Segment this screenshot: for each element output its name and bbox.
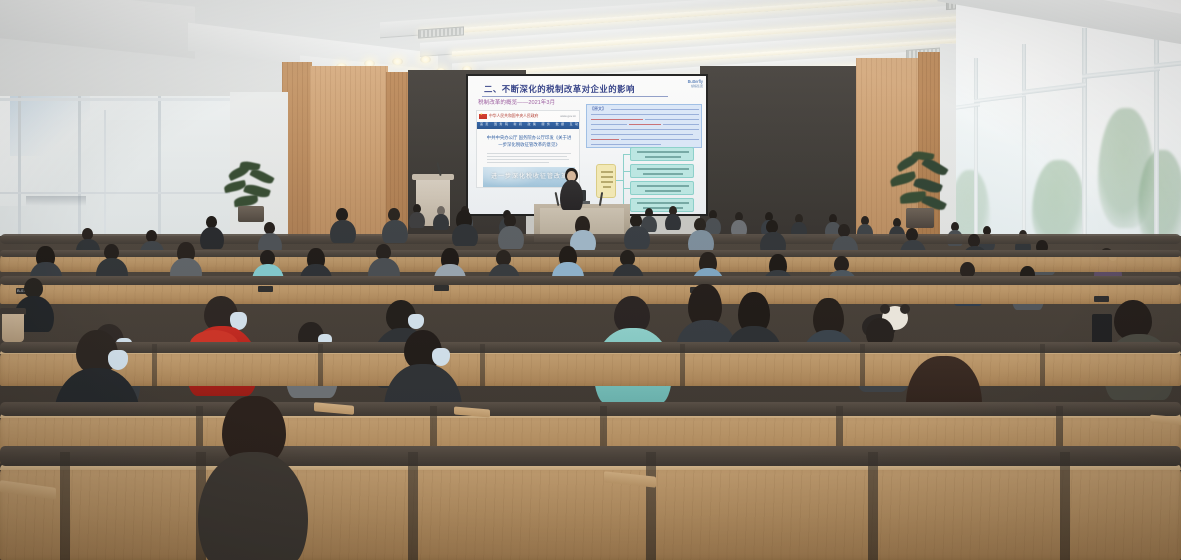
body <box>382 220 408 243</box>
seat-gap <box>480 344 485 386</box>
face-mask <box>432 348 450 366</box>
hub-label-line <box>601 176 613 178</box>
slide-flow-hub <box>596 164 616 198</box>
doc-flag-star-icon: ★ <box>480 113 483 116</box>
seat-row-foreground-1 <box>0 446 1181 560</box>
audience-member <box>432 206 450 228</box>
slide-flow-item <box>630 181 694 195</box>
audience-member <box>688 218 714 252</box>
doc-site-name: 中华人民共和国中央人民政府 <box>489 114 538 118</box>
doc-headline: 中共中央办公厅 国务院办公厅印发《关于进一步深化税收征管改革的意见》 <box>485 135 573 148</box>
plush-ear <box>880 304 890 314</box>
seat-row-mid <box>0 276 1181 304</box>
flow-item-line <box>637 202 689 204</box>
audience-member <box>452 210 478 244</box>
seat-gap <box>60 452 70 560</box>
coffee-cup <box>0 308 26 344</box>
flow-connector <box>623 154 630 155</box>
doc-body-line <box>487 162 549 163</box>
audience-member <box>408 204 426 226</box>
audience-member <box>664 206 682 228</box>
seat-gap <box>860 344 865 386</box>
body <box>330 220 356 243</box>
body <box>200 227 224 249</box>
body <box>452 224 478 246</box>
callout-text-line <box>645 119 699 121</box>
slide-flow-item <box>630 147 694 161</box>
flow-connector <box>623 188 630 189</box>
seat-back <box>0 468 1181 560</box>
presenter-body <box>560 180 583 210</box>
slide-title-underline <box>482 96 668 97</box>
slide-flow-item <box>630 164 694 178</box>
flow-item-line <box>637 168 689 170</box>
glass-frame-rail <box>0 192 232 194</box>
seat-back <box>0 282 1181 304</box>
flow-connector <box>623 171 630 172</box>
seat-number-plaque <box>434 285 449 291</box>
auditorium-photo: Butterfly 蝴蝶集团 二、不断深化的税制改革对企业的影响 税制改革的概览… <box>0 0 1181 560</box>
callout-text-line <box>611 109 699 111</box>
glass-frame-rail <box>0 98 232 101</box>
ceiling-downlight <box>420 56 431 63</box>
callout-text-line <box>591 134 693 136</box>
flow-item-line <box>637 151 689 153</box>
audience-member <box>198 396 308 560</box>
plant-leaf <box>249 167 274 186</box>
seat-pad <box>0 276 1181 285</box>
seat-gap <box>680 344 685 386</box>
body <box>198 452 308 560</box>
doc-site-url: www.gov.cn <box>560 115 576 118</box>
body <box>498 226 524 249</box>
flow-item-line <box>643 173 683 175</box>
plant-pot <box>238 206 264 222</box>
seat-gap <box>152 344 157 386</box>
cup-body <box>2 314 24 342</box>
callout-text-line <box>591 124 627 126</box>
audience-member <box>498 214 524 248</box>
callout-text-line <box>621 139 699 141</box>
hub-label-line <box>601 181 613 183</box>
seat-gap <box>646 452 656 560</box>
slide-title: 二、不断深化的税制改革对企业的影响 <box>484 84 635 94</box>
seat-gap <box>318 344 323 386</box>
doc-body-line <box>487 153 571 154</box>
slide-callout-box: 【原文】 <box>586 104 702 148</box>
slide-logo-subtext: 蝴蝶集团 <box>688 84 703 89</box>
face-mask <box>408 314 424 329</box>
audience-member <box>760 220 786 254</box>
slide-subtitle: 税制改革的概览——2021年3月 <box>478 100 555 107</box>
seat-number-plaque <box>258 286 273 292</box>
seat-pad <box>0 402 1181 416</box>
presenter <box>556 168 586 210</box>
flow-item-line <box>645 156 681 158</box>
callout-text-line-highlight <box>591 119 643 121</box>
audience-member <box>570 216 596 250</box>
body <box>624 226 650 249</box>
face-mask <box>108 350 128 370</box>
callout-text-line <box>663 124 699 126</box>
seat-gap <box>1060 452 1070 560</box>
audience-member <box>382 208 408 242</box>
flow-item-line <box>637 185 689 187</box>
audience-member <box>624 214 650 248</box>
head <box>24 278 43 298</box>
flow-item-line <box>645 190 681 192</box>
seat-pad <box>0 342 1181 353</box>
seat-gap <box>1040 344 1045 386</box>
callout-text-line-highlight <box>591 139 619 141</box>
corridor-reflection <box>26 196 86 206</box>
potted-plant <box>888 150 950 228</box>
slide-callout-heading: 【原文】 <box>590 107 606 112</box>
hub-label-line <box>603 186 611 188</box>
slide-logo: Butterfly 蝴蝶集团 <box>688 79 703 89</box>
plant-leaf <box>921 156 948 178</box>
seat-gap <box>408 452 418 560</box>
doc-body-line <box>487 159 569 160</box>
lectern-top <box>412 174 454 180</box>
potted-plant <box>222 158 280 222</box>
ceiling-downlight <box>392 58 403 65</box>
doc-body-line <box>487 156 567 157</box>
callout-text-line <box>591 144 661 146</box>
hub-label-line <box>601 171 613 173</box>
plant-pot <box>906 208 934 228</box>
callout-text-line-highlight <box>629 124 661 126</box>
audience-member <box>330 208 356 242</box>
doc-navbar-items: 首页 国务院 新闻 政策 服务 数据 互动 国情 <box>480 123 580 126</box>
seat-pad <box>0 446 1181 466</box>
flow-connector <box>623 154 624 206</box>
plush-ear <box>900 304 910 314</box>
audience-member <box>200 216 224 248</box>
callout-text-line <box>591 114 699 116</box>
seat-gap <box>868 452 878 560</box>
callout-text-line <box>591 129 699 131</box>
